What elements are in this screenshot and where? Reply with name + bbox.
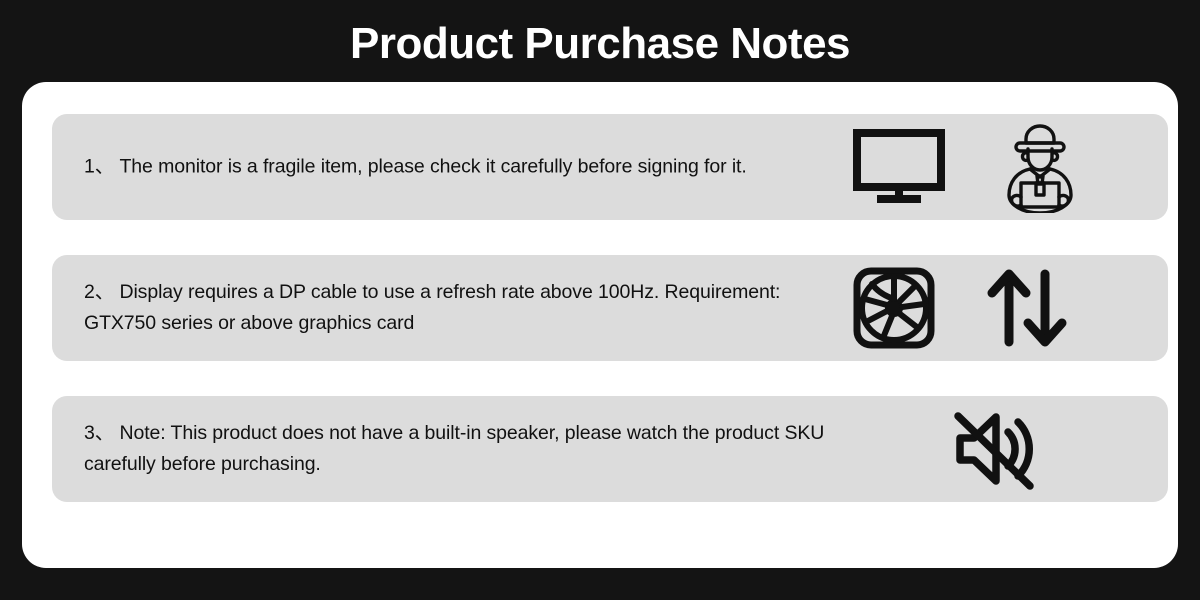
note-text-2: 2、 Display requires a DP cable to use a …: [84, 277, 844, 339]
speaker-mute-icon: [948, 406, 1040, 492]
note-card-2: 2、 Display requires a DP cable to use a …: [52, 255, 1168, 361]
delivery-courier-icon: [1000, 121, 1080, 213]
up-down-arrows-icon: [984, 266, 1070, 350]
product-notes-page: Product Purchase Notes 1、 The monitor is…: [0, 0, 1200, 600]
note-icons-1: [853, 114, 1140, 220]
note-icons-3: [948, 396, 1140, 502]
note-card-1: 1、 The monitor is a fragile item, please…: [52, 114, 1168, 220]
notes-list: 1、 The monitor is a fragile item, please…: [52, 114, 1168, 502]
note-card-3: 3、 Note: This product does not have a bu…: [52, 396, 1168, 502]
note-text-3: 3、 Note: This product does not have a bu…: [84, 418, 844, 480]
notes-panel: 1、 The monitor is a fragile item, please…: [22, 82, 1178, 568]
cooling-fan-icon: [852, 266, 936, 350]
monitor-icon: [853, 129, 945, 205]
page-title: Product Purchase Notes: [0, 22, 1200, 66]
note-icons-2: [852, 255, 1140, 361]
note-text-1: 1、 The monitor is a fragile item, please…: [84, 152, 844, 183]
